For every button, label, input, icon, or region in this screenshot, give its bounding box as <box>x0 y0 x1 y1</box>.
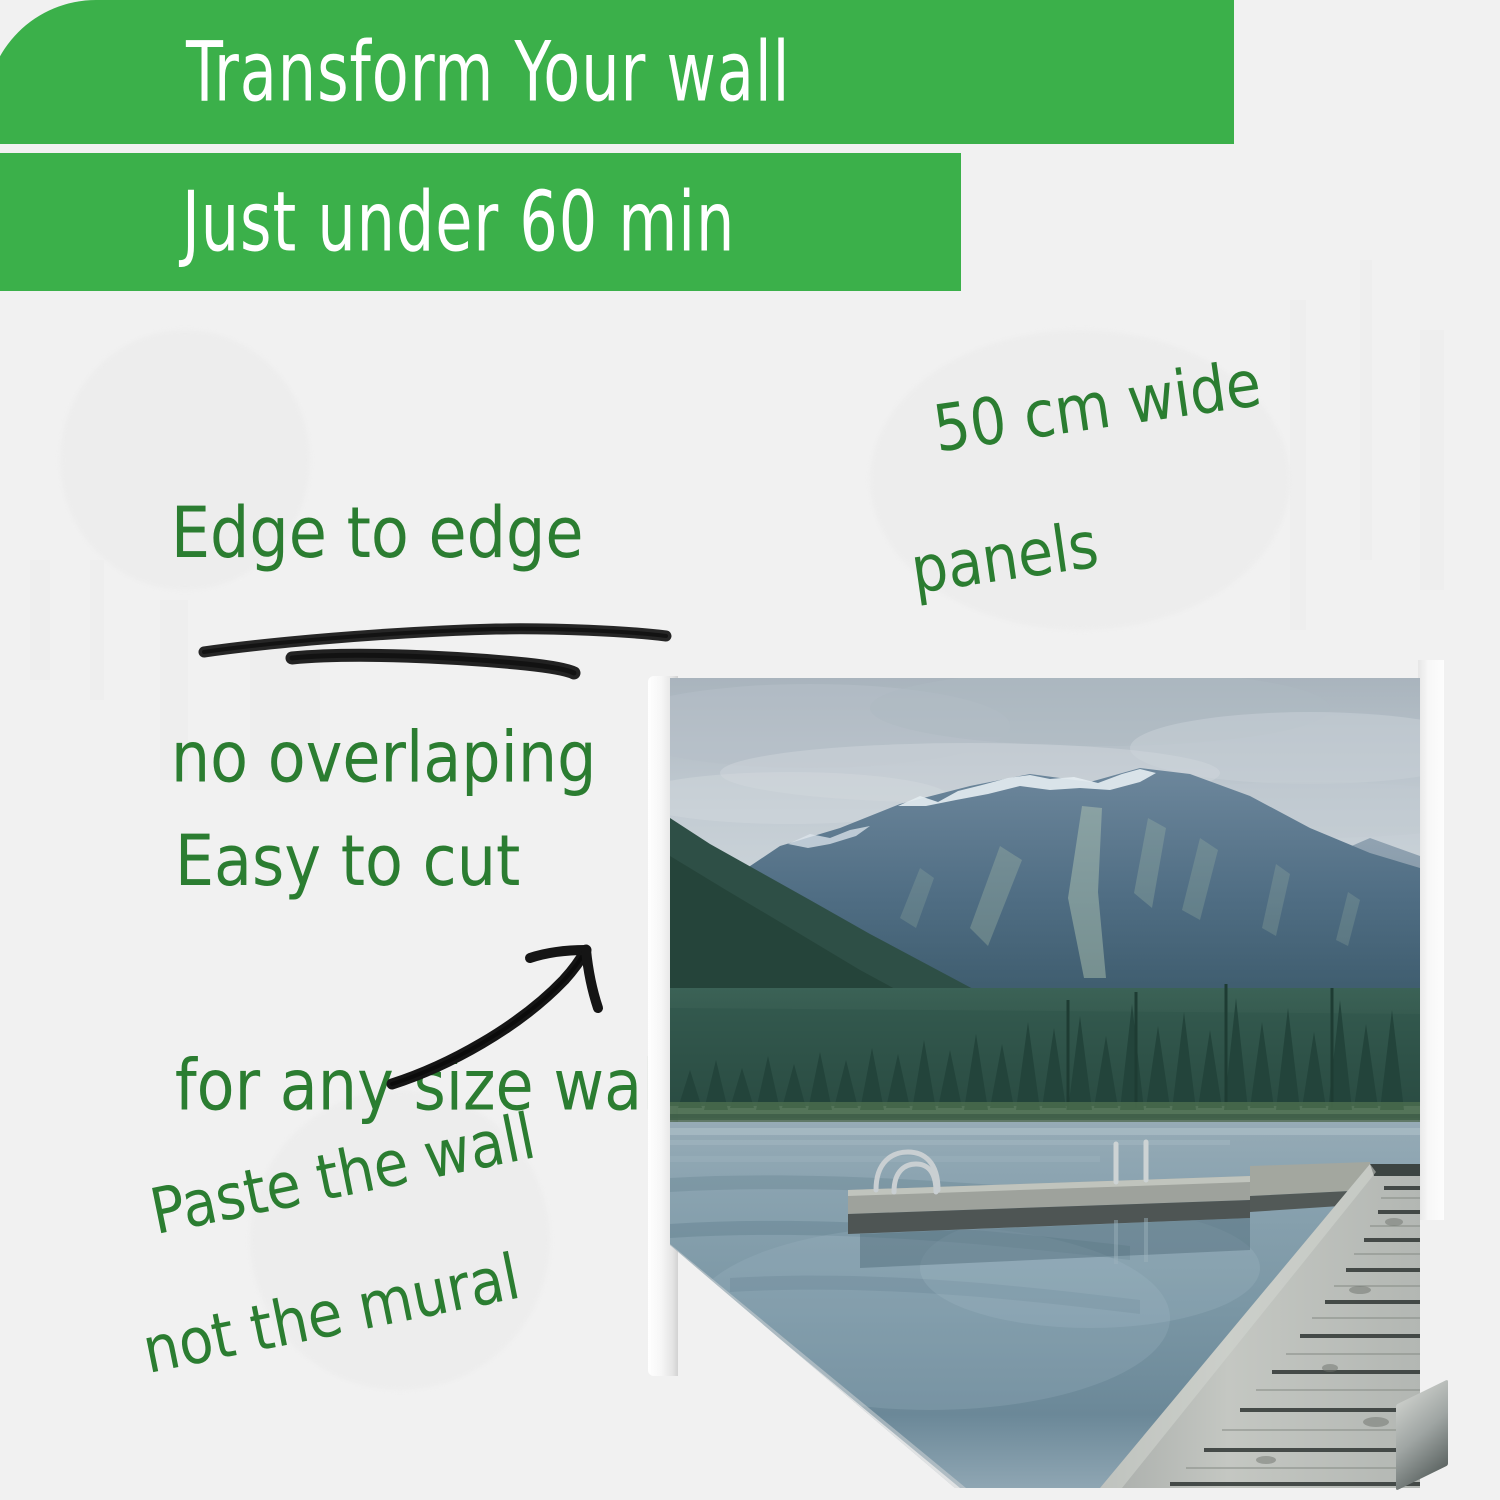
mural-photo <box>670 678 1420 1488</box>
background-texture-line <box>30 560 50 680</box>
headline-banner-text: Transform Your wall <box>186 31 790 114</box>
time-banner: Just under 60 min <box>0 153 961 291</box>
infographic-canvas: Transform Your wall Just under 60 min Ed… <box>0 0 1500 1500</box>
callout-panels-line2: panels <box>907 466 1417 606</box>
callout-panels-line1: 50 cm wide <box>929 347 1266 468</box>
mural-page-edge <box>1418 660 1444 1220</box>
time-banner-text: Just under 60 min <box>182 181 735 264</box>
callout-edge-line1: Edge to edge <box>171 490 584 573</box>
pencil-underline-icon <box>196 612 696 702</box>
callout-paste-line2: not the mural <box>137 1235 567 1385</box>
lake-landscape-illustration <box>670 678 1420 1488</box>
headline-banner: Transform Your wall <box>0 0 1234 144</box>
callout-paste-line1: Paste the wall <box>144 1100 541 1250</box>
background-texture-line <box>1420 330 1444 590</box>
